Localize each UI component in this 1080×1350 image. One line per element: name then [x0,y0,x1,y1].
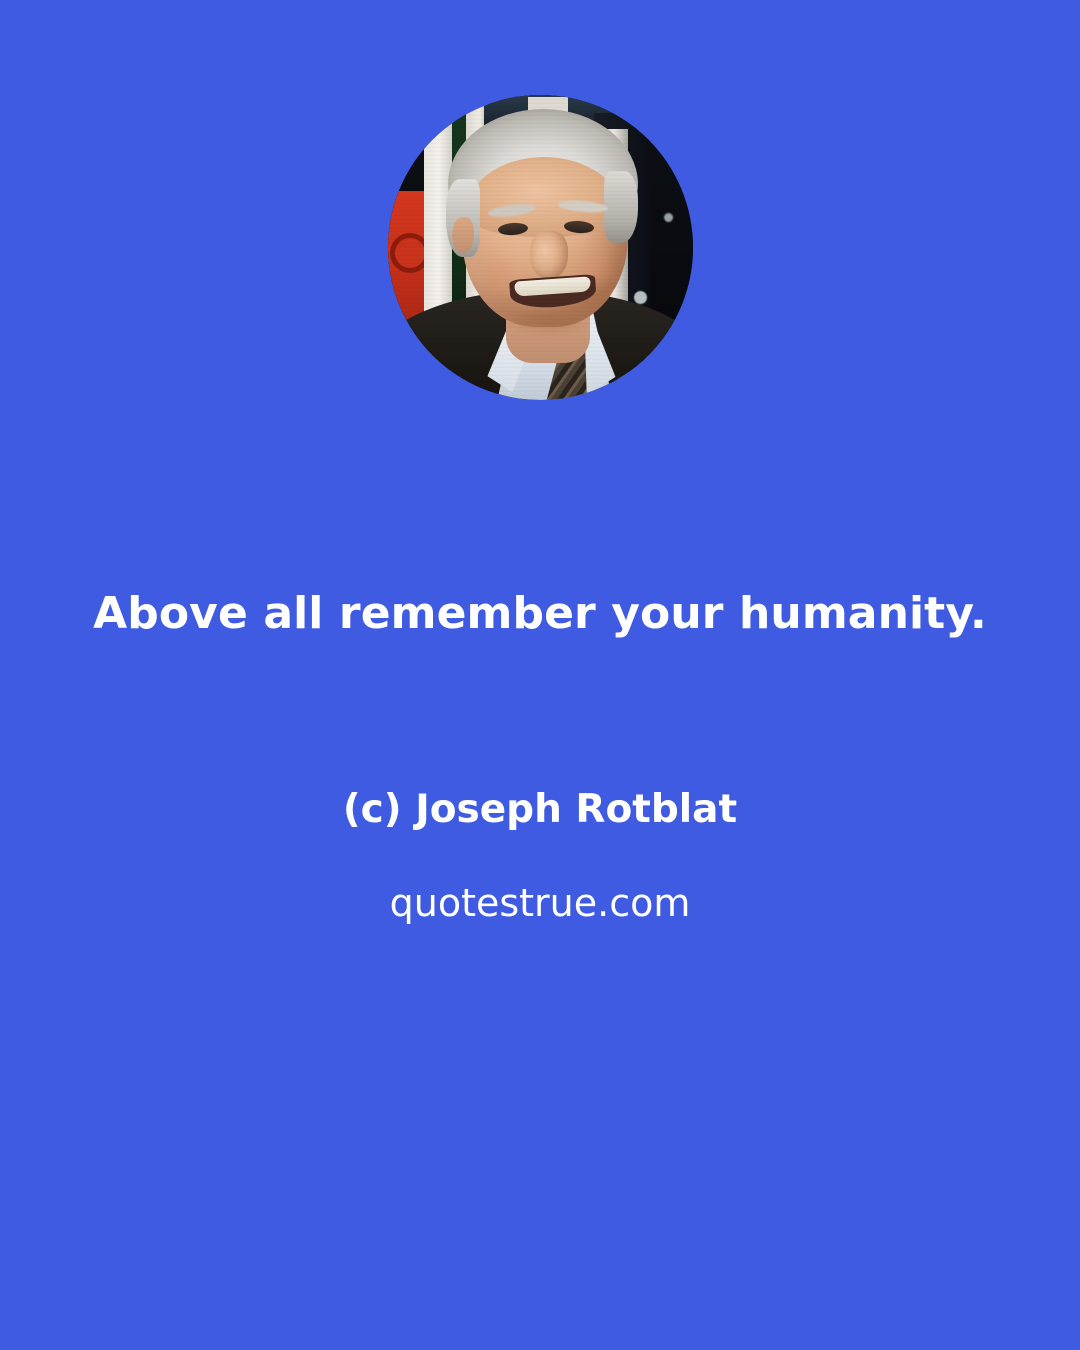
quote-text: Above all remember your humanity. [0,586,1080,641]
background-light-dot-secondary [664,213,673,222]
subject-nose [530,231,568,279]
subject-teeth [514,276,591,296]
subject-hair-side-right [604,171,638,243]
avatar [388,95,693,400]
subject-chin-shadow [506,309,592,337]
portrait-photo [388,95,693,400]
source-website-text: quotestrue.com [0,881,1080,927]
subject-ear-left [452,217,474,253]
background-light-dot [634,291,647,304]
attribution-text: (c) Joseph Rotblat [0,787,1080,834]
quote-card: Above all remember your humanity. (c) Jo… [0,0,1080,1350]
